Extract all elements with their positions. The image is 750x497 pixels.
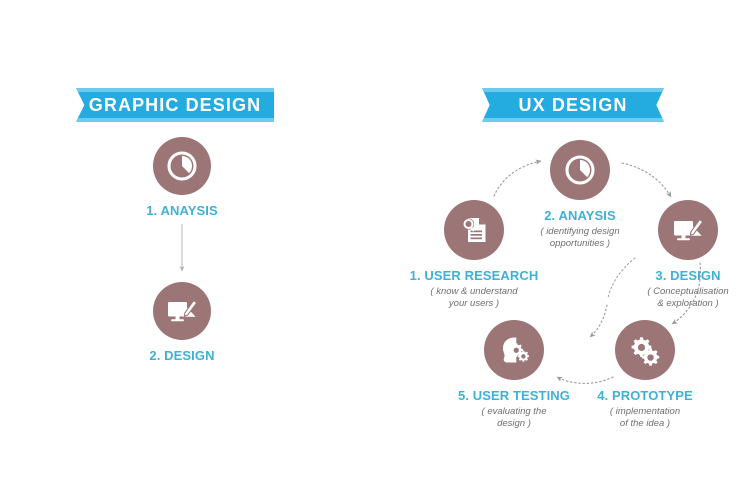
clock-pie-icon xyxy=(550,140,610,200)
node-graphic-analysis[interactable]: 1. ANAYSIS xyxy=(107,137,257,218)
monitor-pen-icon xyxy=(153,282,211,340)
node-subtitle-line: & exploration ) xyxy=(613,298,750,310)
ribbon-bottom-stripe xyxy=(482,118,664,122)
node-label: 4. PROTOTYPE xyxy=(570,388,720,403)
infographic-canvas: GRAPHIC DESIGN 1. ANAYSIS 2. DESIGN U xyxy=(0,0,750,497)
node-subtitle-line: ( Conceptualisation xyxy=(613,286,750,298)
node-label: 1. ANAYSIS xyxy=(107,203,257,218)
node-ux-prototype[interactable]: 4. PROTOTYPE ( implementation of the ide… xyxy=(570,320,720,430)
node-subtitle: ( implementation of the idea ) xyxy=(570,406,720,430)
node-label: 5. USER TESTING xyxy=(439,388,589,403)
banner-graphic-design-label: GRAPHIC DESIGN xyxy=(89,95,261,116)
banner-ux-design-label: UX DESIGN xyxy=(519,95,628,116)
node-label: 1. USER RESEARCH xyxy=(399,268,549,283)
node-subtitle-line: design ) xyxy=(439,418,589,430)
clock-pie-icon xyxy=(153,137,211,195)
monitor-pen-icon xyxy=(658,200,718,260)
document-magnifier-icon xyxy=(444,200,504,260)
node-subtitle-line: your users ) xyxy=(399,298,549,310)
node-subtitle-line: ( know & understand xyxy=(399,286,549,298)
node-ux-user-testing[interactable]: 5. USER TESTING ( evaluating the design … xyxy=(439,320,589,430)
node-subtitle: ( Conceptualisation & exploration ) xyxy=(613,286,750,310)
node-label: 3. DESIGN xyxy=(613,268,750,283)
gears-icon xyxy=(615,320,675,380)
node-subtitle-line: ( evaluating the xyxy=(439,406,589,418)
banner-ux-design: UX DESIGN xyxy=(482,88,664,122)
node-subtitle-line: ( implementation xyxy=(570,406,720,418)
head-gears-icon xyxy=(484,320,544,380)
node-subtitle: ( evaluating the design ) xyxy=(439,406,589,430)
node-subtitle: ( know & understand your users ) xyxy=(399,286,549,310)
node-label: 2. DESIGN xyxy=(107,348,257,363)
banner-graphic-design: GRAPHIC DESIGN xyxy=(76,88,274,122)
ribbon-top-stripe xyxy=(76,88,274,92)
ribbon-top-stripe xyxy=(482,88,664,92)
node-graphic-design[interactable]: 2. DESIGN xyxy=(107,282,257,363)
node-ux-design[interactable]: 3. DESIGN ( Conceptualisation & explorat… xyxy=(613,200,750,310)
ribbon-bottom-stripe xyxy=(76,118,274,122)
node-subtitle-line: of the idea ) xyxy=(570,418,720,430)
